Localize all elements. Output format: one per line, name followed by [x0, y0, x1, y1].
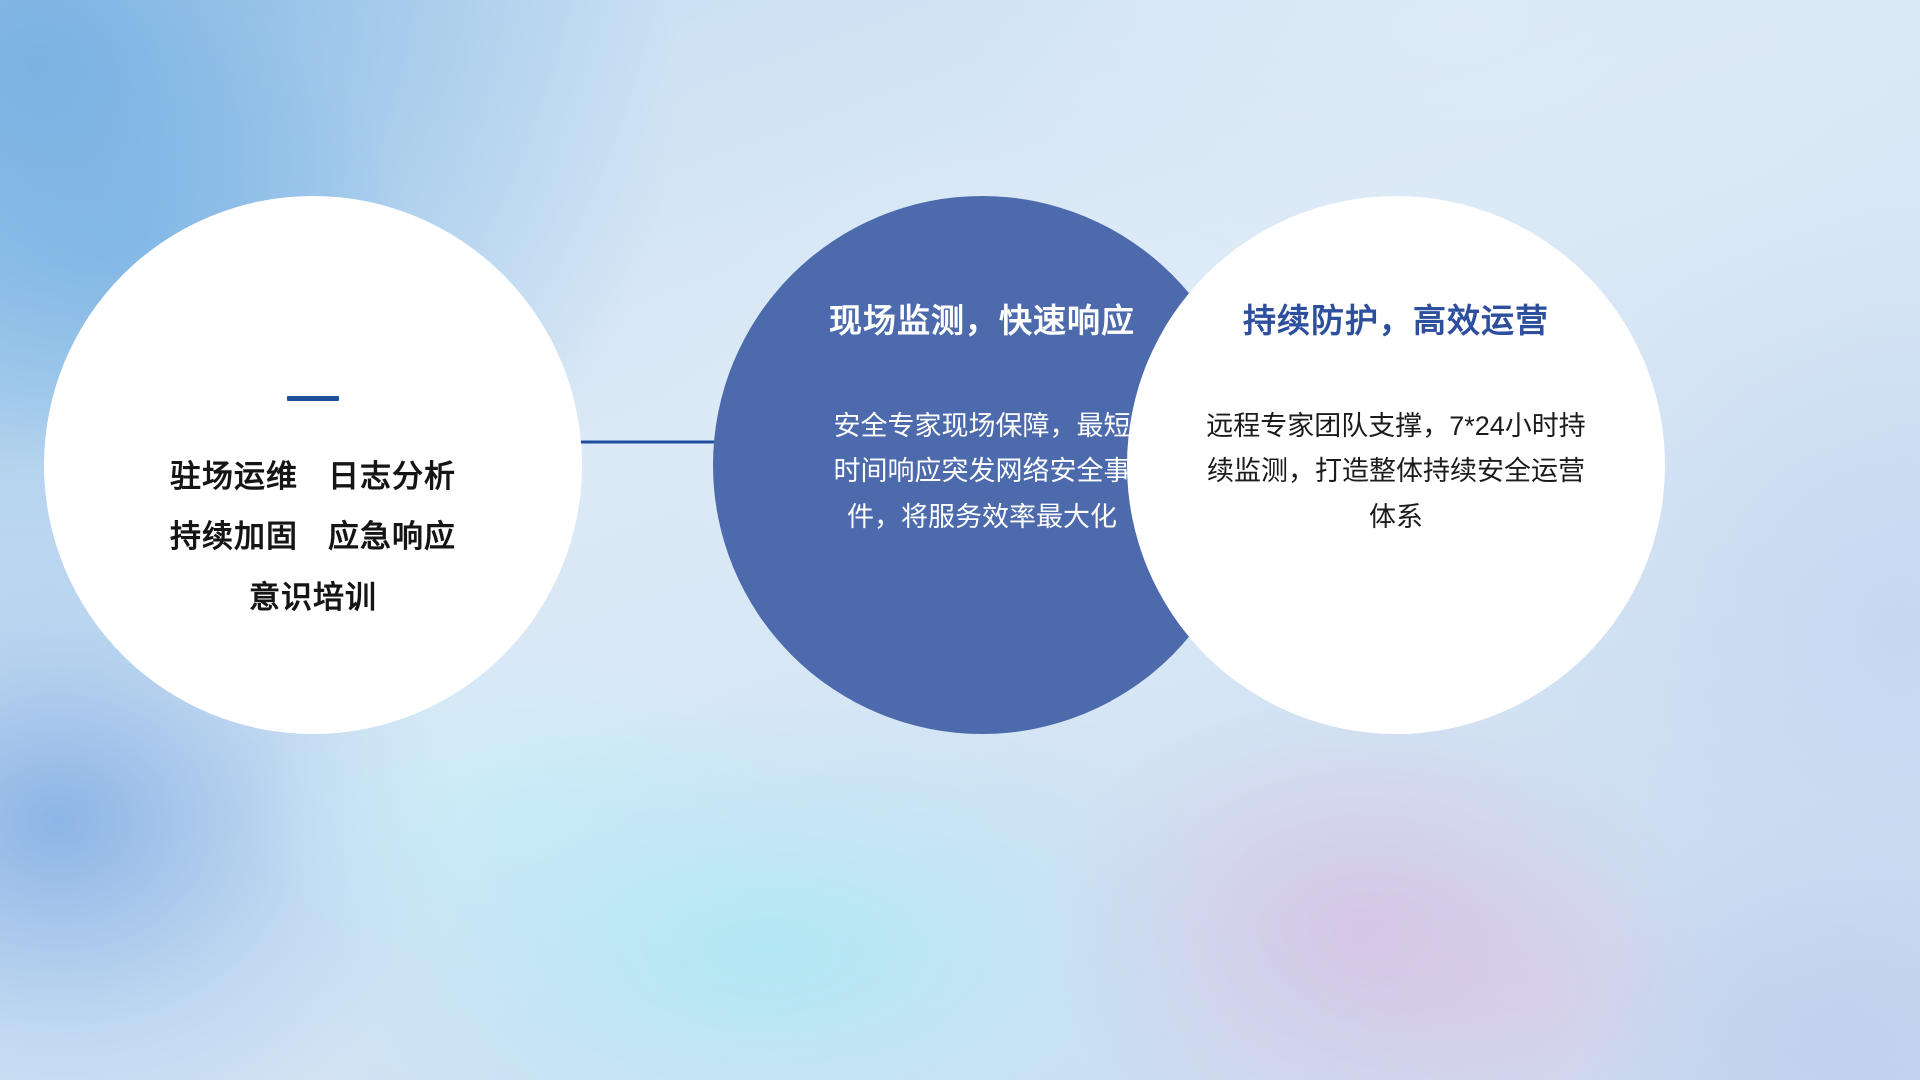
capability-tag-rizhifenxi[interactable]: 日志分析 — [328, 459, 456, 494]
capability-tag-list: 驻场运维日志分析 持续加固应急响应 意识培训 — [170, 447, 456, 628]
right-circle-card[interactable]: 持续防护，高效运营 远程专家团队支撑，7*24小时持续监测，打造整体持续安全运营… — [1127, 196, 1665, 734]
capability-tag-chixujiagu[interactable]: 持续加固 — [170, 519, 298, 554]
left-circle-card[interactable]: 驻场运维日志分析 持续加固应急响应 意识培训 — [44, 196, 582, 734]
slide-canvas: 驻场运维日志分析 持续加固应急响应 意识培训 现场监测，快速响应 安全专家现场保… — [0, 0, 1920, 1080]
right-circle-headline: 持续防护，高效运营 — [1243, 294, 1549, 342]
capability-tag-zhuchangyunwei[interactable]: 驻场运维 — [170, 459, 298, 494]
accent-rule-divider — [287, 396, 339, 401]
capability-tag-yingjixiangying[interactable]: 应急响应 — [328, 519, 456, 554]
capability-tag-yishipeixun[interactable]: 意识培训 — [249, 580, 377, 615]
capability-tag-row-3: 意识培训 — [170, 568, 456, 628]
middle-circle-headline: 现场监测，快速响应 — [829, 294, 1135, 342]
right-circle-body-text: 远程专家团队支撑，7*24小时持续监测，打造整体持续安全运营体系 — [1196, 404, 1596, 540]
capability-tag-row-1: 驻场运维日志分析 — [170, 447, 456, 507]
capability-tag-row-2: 持续加固应急响应 — [170, 507, 456, 567]
middle-circle-body-text: 安全专家现场保障，最短时间响应突发网络安全事件，将服务效率最大化 — [822, 404, 1142, 540]
